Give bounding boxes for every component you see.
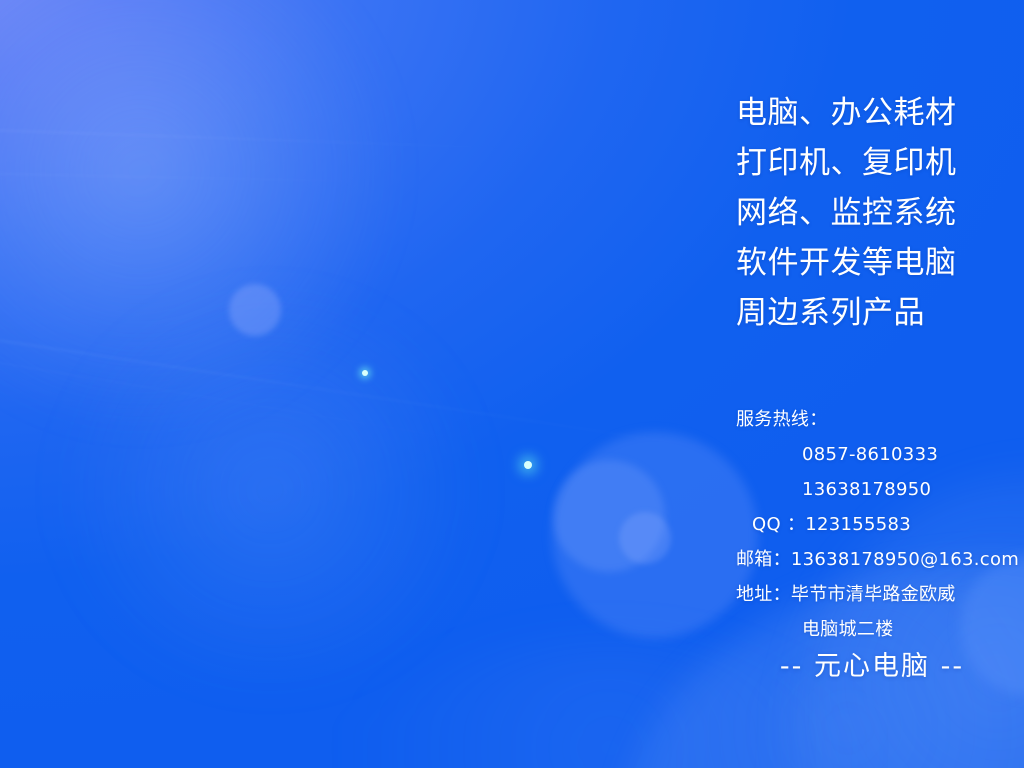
bubble-small	[619, 512, 671, 564]
headline-line-5: 周边系列产品	[736, 288, 1008, 338]
headline-line-2: 打印机、复印机	[736, 138, 1008, 188]
email-address[interactable]: 邮箱：13638178950@163.com	[736, 542, 1016, 577]
street-address-line-1: 地址：毕节市清毕路金欧威	[736, 577, 1016, 612]
headline-line-4: 软件开发等电脑	[736, 238, 1008, 288]
glow-mid-left	[60, 300, 480, 680]
headline-line-1: 电脑、办公耗材	[736, 88, 1008, 138]
bubble-large	[552, 432, 758, 638]
bubble-left	[229, 284, 281, 336]
bubble-medium	[553, 460, 665, 572]
light-streak-2	[0, 172, 480, 185]
headline-line-3: 网络、监控系统	[736, 188, 1008, 238]
poster-canvas: 电脑、办公耗材 打印机、复印机 网络、监控系统 软件开发等电脑 周边系列产品 服…	[0, 0, 1024, 768]
headline-block: 电脑、办公耗材 打印机、复印机 网络、监控系统 软件开发等电脑 周边系列产品	[736, 88, 1008, 338]
glow-upper-left	[0, 0, 400, 430]
phone-mobile[interactable]: 13638178950	[736, 472, 1016, 507]
light-streak-4	[0, 352, 690, 478]
street-address-line-2: 电脑城二楼	[736, 612, 1016, 647]
sparkle-point-1	[362, 370, 368, 376]
hotline-label: 服务热线：	[736, 402, 1016, 437]
brand-signature: -- 元心电脑 --	[736, 648, 1008, 686]
light-streak-3	[0, 330, 830, 468]
phone-landline[interactable]: 0857-8610333	[736, 437, 1016, 472]
sparkle-point-2	[524, 461, 532, 469]
contact-block: 服务热线： 0857-8610333 13638178950 QQ ：12315…	[736, 402, 1016, 647]
qq-number[interactable]: QQ ：123155583	[736, 507, 1016, 542]
light-streak-1	[0, 128, 580, 152]
